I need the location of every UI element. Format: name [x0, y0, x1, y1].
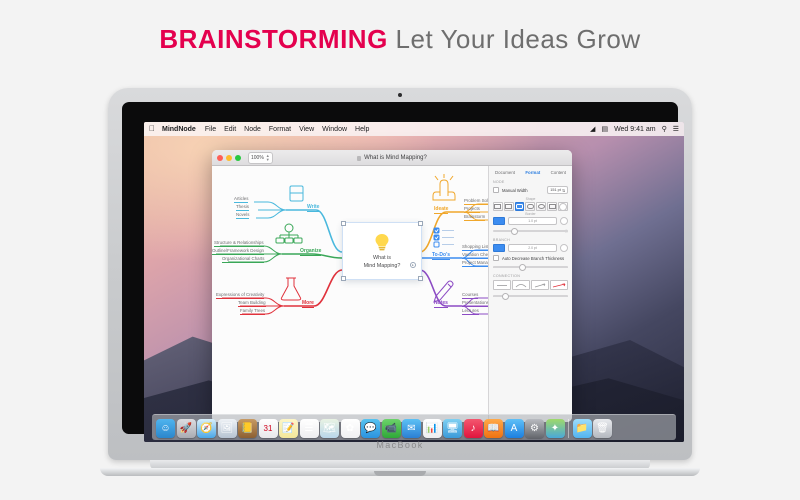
dock-icon-maps[interactable]: 🗺 [320, 419, 339, 438]
finder-icon: ☺ [160, 423, 170, 434]
leaf-vacation-checklists[interactable]: Vacation Checklists [462, 252, 488, 259]
node-shape-segmented-control[interactable] [493, 202, 568, 211]
dock-icon-facetime[interactable]: 📹 [382, 419, 401, 438]
branch-style-well[interactable] [560, 244, 568, 252]
branch-label-notes[interactable]: Notes [434, 300, 448, 308]
system-preferences-icon: ⚙ [530, 423, 539, 434]
menu-view[interactable]: View [299, 126, 314, 133]
border-width-field[interactable]: 1.0 pt [508, 217, 557, 225]
dock-icon-system-preferences[interactable]: ⚙ [525, 419, 544, 438]
menu-format[interactable]: Format [269, 126, 291, 133]
branch-label-ideate[interactable]: Ideate [434, 206, 448, 214]
shape-rounded-button[interactable] [515, 202, 525, 211]
ibooks-icon: 📖 [487, 423, 499, 434]
downloads-folder-icon: 📁 [576, 423, 588, 434]
leaf-projects[interactable]: Projects [464, 206, 480, 213]
auto-decrease-checkbox[interactable] [493, 255, 499, 261]
tab-document[interactable]: Document [493, 169, 517, 176]
shape-none-button[interactable] [493, 202, 503, 211]
center-node-text: What is Mind Mapping? [364, 254, 401, 270]
photos-icon: ✿ [346, 423, 354, 434]
section-header-branch: BRANCH [493, 238, 568, 242]
macos-dock[interactable]: ☺🚀🧭🖼📒31📝☰🗺✿💬📹✉📊🖥♪📖A⚙✦📁🗑 [152, 414, 676, 440]
battery-icon[interactable]: ▤ [601, 125, 608, 133]
checklist-icon [434, 228, 454, 247]
flask-icon [281, 278, 300, 300]
reminders-icon: ☰ [305, 423, 314, 434]
hand-idea-icon [433, 174, 455, 200]
dock-icon-keynote[interactable]: 🖥 [443, 419, 462, 438]
manual-width-stepper[interactable]: 151 pt ⇅ [547, 186, 568, 194]
app-store-icon: A [511, 423, 518, 434]
contacts-icon: 📒 [241, 423, 253, 434]
menu-window[interactable]: Window [322, 126, 347, 133]
branch-label-more[interactable]: More [302, 300, 314, 308]
mail-icon: ✉ [407, 423, 415, 434]
connection-style-control[interactable] [493, 280, 568, 290]
numbers-icon: 📊 [426, 423, 438, 434]
dock-icon-mindnode[interactable]: ✦ [546, 419, 565, 438]
branch-label-organize[interactable]: Organize [300, 248, 321, 256]
laptop-lid:  MindNode File Edit Node Format View Wi… [108, 88, 692, 460]
manual-width-label: Manual Width [502, 188, 528, 193]
dock-icon-numbers[interactable]: 📊 [423, 419, 442, 438]
promo-page: BRAINSTORMING Let Your Ideas Grow  Mind… [0, 0, 800, 500]
window-title-text: What is Mind Mapping? [364, 155, 427, 161]
dock-icon-photos[interactable]: ✿ [341, 419, 360, 438]
leaf-structure-relationships[interactable]: Structure & Relationships [214, 240, 264, 247]
dock-icon-preview[interactable]: 🖼 [218, 419, 237, 438]
connection-slider[interactable]: min max [493, 293, 568, 299]
leaf-courses[interactable]: Courses [462, 292, 478, 299]
calendar-icon: 31 [264, 424, 273, 433]
dock-icon-app-store[interactable]: A [505, 419, 524, 438]
document-icon [357, 156, 361, 161]
stepper-arrows-icon[interactable]: ⇅ [562, 188, 565, 193]
leaf-brainstorm[interactable]: Brainstorm [464, 214, 485, 221]
leaf-problem-solving[interactable]: Problem Solving [464, 198, 488, 205]
leaf-expressions-of-creativity[interactable]: Expressions of Creativity [216, 292, 264, 299]
laptop-notch [374, 471, 426, 476]
dock-icon-messages[interactable]: 💬 [361, 419, 380, 438]
leaf-articles[interactable]: Articles [234, 196, 248, 203]
menu-node[interactable]: Node [244, 126, 261, 133]
dock-icon-downloads-folder[interactable]: 📁 [573, 419, 592, 438]
manual-width-value: 151 pt [550, 188, 561, 192]
leaf-lectures[interactable]: Lectures [462, 308, 479, 315]
dock-icon-notes[interactable]: 📝 [279, 419, 298, 438]
node-padding-slider[interactable]: ○ ◯ [493, 228, 568, 234]
menubar-app-name[interactable]: MindNode [162, 126, 196, 133]
branch-curve-slider[interactable]: min max [493, 264, 568, 270]
shape-underline-button[interactable] [547, 202, 557, 211]
leaf-outline-framework-design[interactable]: Outline/Framework Design [212, 248, 264, 255]
mindnode-window[interactable]: 100% ▲▼ What is Mind Mapping? [212, 150, 572, 422]
zoom-button[interactable] [235, 155, 241, 161]
border-style-well[interactable] [560, 217, 568, 225]
notification-center-icon[interactable]: ☰ [673, 125, 679, 133]
auto-decrease-row[interactable]: Auto Decrease Branch Thickness [493, 255, 568, 261]
leaf-presentations[interactable]: Presentations [462, 300, 488, 307]
branch-color-well[interactable] [493, 244, 505, 252]
mindnode-icon: ✦ [551, 423, 559, 434]
leaf-thesis[interactable]: Thesis [236, 204, 249, 211]
collapse-toggle-icon[interactable]: ▸ [410, 262, 416, 268]
device-label: MacBook [108, 440, 692, 450]
section-header-node: NODE [493, 180, 568, 184]
dock-icon-finder[interactable]: ☺ [156, 419, 175, 438]
screen-bezel:  MindNode File Edit Node Format View Wi… [122, 102, 678, 434]
headline-light: Let Your Ideas Grow [396, 24, 641, 54]
connection-arrow-button[interactable] [531, 280, 549, 290]
messages-icon: 💬 [364, 423, 376, 434]
leaf-family-trees[interactable]: Family Trees [240, 308, 265, 315]
close-button[interactable] [217, 155, 223, 161]
tab-format[interactable]: Format [523, 169, 542, 176]
menu-edit[interactable]: Edit [224, 126, 236, 133]
window-titlebar[interactable]: 100% ▲▼ What is Mind Mapping? [212, 150, 572, 166]
macbook-device:  MindNode File Edit Node Format View Wi… [108, 88, 692, 460]
search-icon[interactable]: ⚲ [662, 125, 667, 133]
branch-label-write[interactable]: Write [307, 204, 319, 212]
resize-handle-top-right[interactable] [418, 221, 422, 225]
leaf-organizational-charts[interactable]: Organizational Charts [222, 256, 264, 263]
itunes-icon: ♪ [471, 423, 476, 434]
book-icon [290, 186, 303, 201]
resize-handle-bottom-right[interactable] [418, 276, 422, 280]
tab-content[interactable]: Content [549, 169, 568, 176]
safari-icon: 🧭 [200, 423, 212, 434]
border-color-well[interactable] [493, 217, 505, 225]
menu-help[interactable]: Help [355, 126, 369, 133]
facetime-icon: 📹 [385, 423, 397, 434]
resize-handle-top-left[interactable] [341, 221, 345, 225]
connection-color-button[interactable] [550, 280, 568, 290]
dock-icon-calendar[interactable]: 31 [259, 419, 278, 438]
lightbulb-icon [373, 232, 391, 252]
leaf-novels[interactable]: Novels [236, 212, 249, 219]
dock-icon-reminders[interactable]: ☰ [300, 419, 319, 438]
inspector-panel[interactable]: Document Format Content NODE Manual Widt… [488, 166, 572, 422]
border-header: Border [493, 212, 568, 216]
window-controls[interactable] [217, 155, 241, 161]
dock-icon-itunes[interactable]: ♪ [464, 419, 483, 438]
maps-icon: 🗺 [323, 423, 336, 434]
branch-label-todos[interactable]: To-Do's [432, 252, 450, 260]
webcam-icon [398, 93, 402, 97]
resize-handle-bottom-left[interactable] [341, 276, 345, 280]
center-node-line2: Mind Mapping? [364, 263, 401, 269]
apple-menu-icon[interactable]:  [149, 125, 155, 133]
headline-bold: BRAINSTORMING [159, 24, 387, 54]
section-header-connection: CONNECTION [493, 274, 568, 278]
inspector-tabs[interactable]: Document Format Content [493, 169, 568, 176]
minimize-button[interactable] [226, 155, 232, 161]
trash-icon: 🗑 [596, 423, 609, 434]
org-chart-icon [276, 224, 302, 243]
preview-icon: 🖼 [221, 423, 234, 434]
zoom-level-field[interactable]: 100% ▲▼ [248, 152, 273, 164]
dock-icon-mail[interactable]: ✉ [402, 419, 421, 438]
shape-pill-button[interactable] [525, 202, 535, 211]
shape-header: Shape [493, 197, 568, 201]
leaf-team-building[interactable]: Team Building [238, 300, 266, 307]
center-node[interactable]: What is Mind Mapping? ▸ [342, 222, 422, 280]
mindmap-canvas[interactable]: Write Articles Thesis Novels Organize St… [212, 166, 488, 422]
wifi-icon[interactable]: ◢ [590, 125, 595, 133]
connection-straight-button[interactable] [493, 280, 511, 290]
manual-width-checkbox[interactable] [493, 187, 499, 193]
window-body: Write Articles Thesis Novels Organize St… [212, 166, 572, 422]
manual-width-row[interactable]: Manual Width 151 pt ⇅ [493, 186, 568, 194]
center-node-line1: What is [373, 255, 391, 261]
keynote-icon: 🖥 [446, 423, 459, 434]
zoom-level-value: 100% [251, 155, 264, 161]
dock-separator [568, 419, 569, 438]
leaf-project-management[interactable]: Project Management [462, 260, 488, 267]
node-fill-color-well[interactable] [558, 202, 568, 211]
dock-icon-ibooks[interactable]: 📖 [484, 419, 503, 438]
shape-ellipse-button[interactable] [536, 202, 546, 211]
zoom-stepper[interactable]: ▲▼ [266, 154, 270, 161]
page-title: BRAINSTORMING Let Your Ideas Grow [0, 24, 800, 55]
launchpad-icon: 🚀 [180, 423, 192, 434]
menu-file[interactable]: File [205, 126, 216, 133]
auto-decrease-label: Auto Decrease Branch Thickness [502, 256, 564, 261]
notes-icon: 📝 [282, 423, 294, 434]
node-border-row[interactable]: 1.0 pt [493, 217, 568, 225]
branch-thickness-row[interactable]: 2.0 pt [493, 244, 568, 252]
desktop-screen:  MindNode File Edit Node Format View Wi… [144, 122, 684, 442]
menubar-clock[interactable]: Wed 9:41 am [614, 126, 656, 133]
macos-menubar[interactable]:  MindNode File Edit Node Format View Wi… [144, 122, 684, 136]
branch-thickness-field[interactable]: 2.0 pt [508, 244, 557, 252]
dock-icon-trash[interactable]: 🗑 [593, 419, 612, 438]
dock-icon-contacts[interactable]: 📒 [238, 419, 257, 438]
shape-rect-button[interactable] [504, 202, 514, 211]
dock-icon-launchpad[interactable]: 🚀 [177, 419, 196, 438]
dock-icon-safari[interactable]: 🧭 [197, 419, 216, 438]
connection-curved-button[interactable] [512, 280, 530, 290]
leaf-shopping-lists[interactable]: Shopping Lists [462, 244, 488, 251]
